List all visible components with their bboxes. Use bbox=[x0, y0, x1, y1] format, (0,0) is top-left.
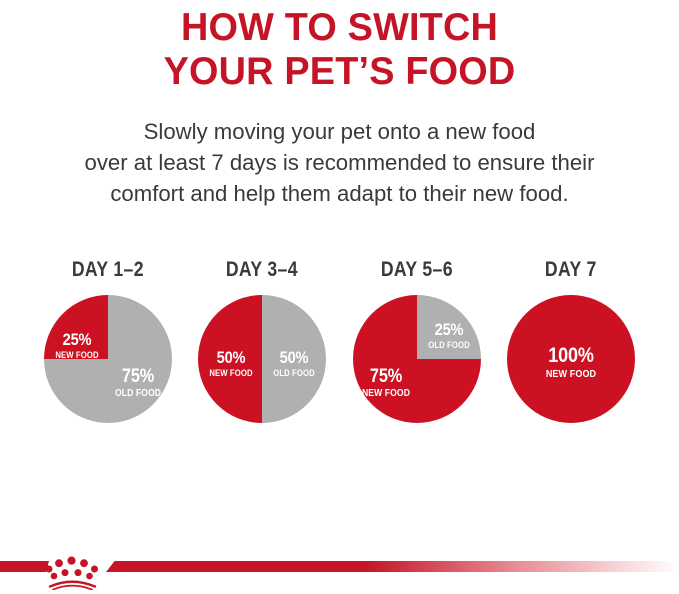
page-title: HOW TO SWITCH YOUR PET’S FOOD bbox=[0, 0, 679, 94]
chart-day-5-6: DAY 5–6 25% OLD FOOD 75% NEW FOOD bbox=[343, 258, 491, 423]
royal-canin-crown-logo-icon bbox=[44, 552, 102, 590]
pie-1-svg bbox=[44, 295, 172, 423]
day-label-4: DAY 7 bbox=[545, 258, 597, 282]
slice-new-food bbox=[507, 295, 635, 423]
pie-3-svg bbox=[353, 295, 481, 423]
slice-old-food bbox=[262, 295, 326, 423]
pie-2-svg bbox=[198, 295, 326, 423]
intro-line-3: comfort and help them adapt to their new… bbox=[9, 178, 670, 209]
day-label-2: DAY 3–4 bbox=[226, 258, 298, 282]
slice-new-food bbox=[44, 295, 108, 359]
title-line-1: HOW TO SWITCH bbox=[10, 6, 669, 50]
title-line-2: YOUR PET’S FOOD bbox=[10, 50, 669, 94]
chart-day-1-2: DAY 1–2 25% NEW FOOD 75% OLD FOOD bbox=[34, 258, 182, 423]
pie-4: 100% NEW FOOD bbox=[507, 295, 635, 423]
chart-day-7: DAY 7 100% NEW FOOD bbox=[497, 258, 645, 423]
footer-bar-right bbox=[106, 561, 679, 572]
pie-3: 25% OLD FOOD 75% NEW FOOD bbox=[353, 295, 481, 423]
slice-new-food bbox=[198, 295, 262, 423]
day-label-3: DAY 5–6 bbox=[381, 258, 453, 282]
intro-paragraph: Slowly moving your pet onto a new food o… bbox=[0, 116, 679, 209]
pie-chart-row: DAY 1–2 25% NEW FOOD 75% OLD FOOD DAY 3–… bbox=[0, 258, 679, 423]
pie-2: 50% NEW FOOD 50% OLD FOOD bbox=[198, 295, 326, 423]
pie-4-svg bbox=[507, 295, 635, 423]
slice-old-food bbox=[417, 295, 481, 359]
intro-line-1: Slowly moving your pet onto a new food bbox=[9, 116, 670, 147]
day-label-1: DAY 1–2 bbox=[72, 258, 144, 282]
chart-day-3-4: DAY 3–4 50% NEW FOOD 50% OLD FOOD bbox=[188, 258, 336, 423]
intro-line-2: over at least 7 days is recommended to e… bbox=[9, 147, 670, 178]
footer-bar-left bbox=[0, 561, 49, 572]
pie-1: 25% NEW FOOD 75% OLD FOOD bbox=[44, 295, 172, 423]
